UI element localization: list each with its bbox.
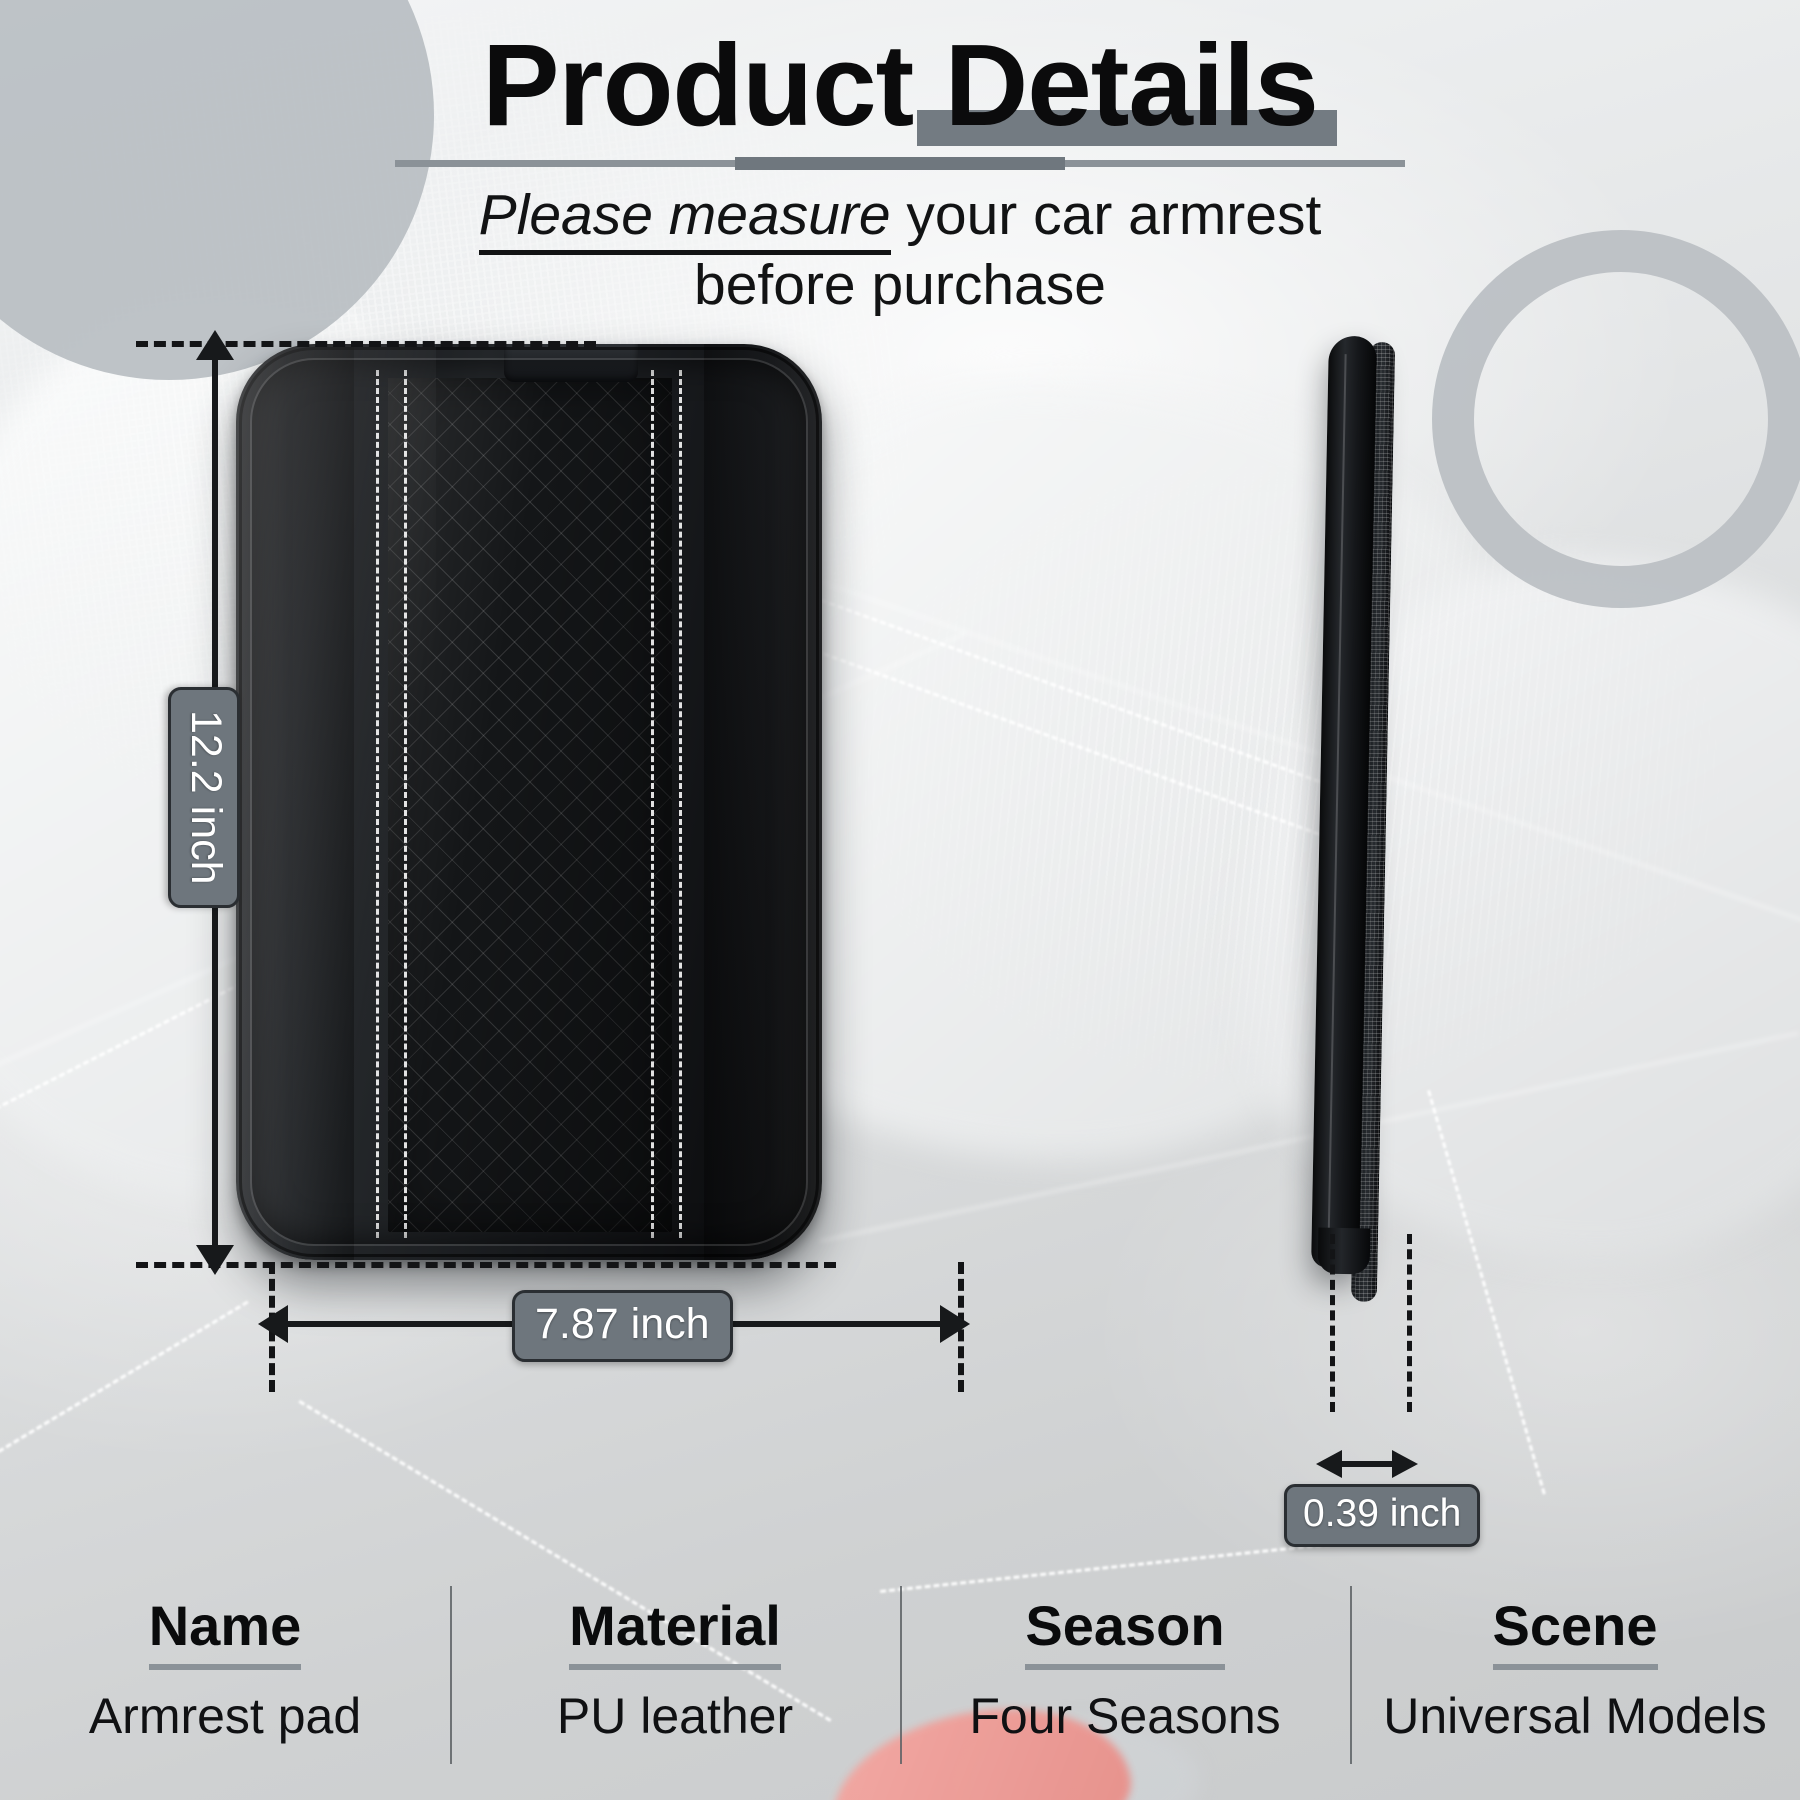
pad-highlight-gloss bbox=[236, 344, 436, 1260]
spec-heading: Season bbox=[1025, 1596, 1224, 1670]
thickness-arrow-left bbox=[1316, 1450, 1342, 1478]
page-title: Product Details bbox=[482, 26, 1318, 144]
header: Product Details Please measure your car … bbox=[0, 26, 1800, 320]
spec-item-name: Name Armrest pad bbox=[0, 1588, 450, 1744]
spec-value: Armrest pad bbox=[0, 1689, 450, 1744]
spec-value: Four Seasons bbox=[900, 1689, 1350, 1744]
spec-item-season: Season Four Seasons bbox=[900, 1588, 1350, 1744]
spec-row: Name Armrest pad Material PU leather Sea… bbox=[0, 1588, 1800, 1774]
subtitle-rest: your car armrest bbox=[891, 183, 1322, 247]
spec-item-scene: Scene Universal Models bbox=[1350, 1588, 1800, 1744]
height-guide-bottom bbox=[136, 1262, 836, 1268]
spec-item-material: Material PU leather bbox=[450, 1588, 900, 1744]
spec-value: PU leather bbox=[450, 1689, 900, 1744]
width-dimension-badge: 7.87 inch bbox=[512, 1290, 733, 1362]
width-dimension-label: 7.87 inch bbox=[535, 1300, 710, 1348]
subtitle-line-2: before purchase bbox=[0, 251, 1800, 321]
armrest-pad-side-view bbox=[1306, 336, 1394, 1268]
height-dimension-label: 12.2 inch bbox=[182, 710, 230, 885]
thickness-dimension-line bbox=[1338, 1461, 1400, 1467]
width-arrow-right bbox=[940, 1305, 970, 1343]
thickness-dimension-label: 0.39 inch bbox=[1303, 1492, 1461, 1535]
product-detail-image: Product Details Please measure your car … bbox=[0, 0, 1800, 1800]
height-arrow-bottom bbox=[196, 1245, 234, 1275]
width-arrow-left bbox=[258, 1305, 288, 1343]
thickness-arrow-right bbox=[1392, 1450, 1418, 1478]
header-rule bbox=[395, 160, 1405, 167]
side-bottom-tip bbox=[1318, 1228, 1371, 1275]
header-rule-center bbox=[735, 157, 1065, 170]
thickness-guide-right bbox=[1407, 1234, 1412, 1412]
height-arrow-top bbox=[196, 330, 234, 360]
spec-heading: Material bbox=[569, 1596, 781, 1670]
spec-heading: Scene bbox=[1493, 1596, 1658, 1670]
spec-value: Universal Models bbox=[1350, 1689, 1800, 1744]
thickness-guide-left bbox=[1330, 1234, 1335, 1412]
thickness-dimension-badge: 0.39 inch bbox=[1284, 1484, 1480, 1547]
subtitle: Please measure your car armrest before p… bbox=[0, 181, 1800, 320]
height-dimension-badge: 12.2 inch bbox=[168, 687, 240, 908]
subtitle-emphasis: Please measure bbox=[479, 183, 891, 255]
spec-heading: Name bbox=[149, 1596, 302, 1670]
page-title-wrap: Product Details bbox=[482, 26, 1318, 144]
armrest-pad-front-view bbox=[236, 344, 822, 1260]
